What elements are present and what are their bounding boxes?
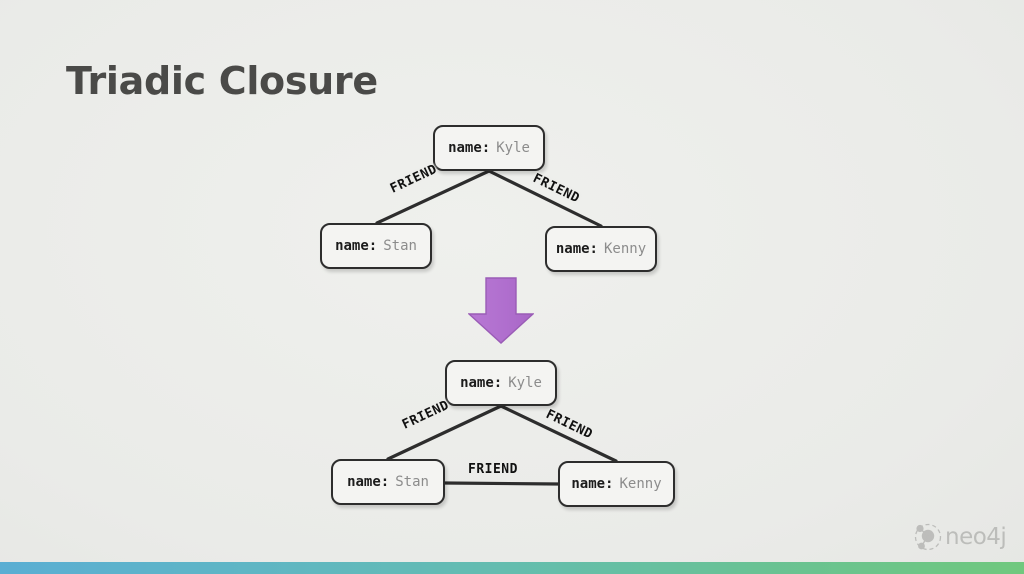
node-stan-bottom[interactable]: name: Stan xyxy=(331,459,445,505)
edge-stan-kenny-bottom xyxy=(445,483,558,484)
neo4j-graph-icon xyxy=(912,521,944,553)
node-key: name: xyxy=(448,140,490,156)
node-value: Kenny xyxy=(620,476,662,492)
edge-label-kyle-stan-top: FRIEND xyxy=(388,162,440,197)
edge-label-kyle-stan-bottom: FRIEND xyxy=(400,398,452,433)
downward-arrow-icon xyxy=(468,277,534,344)
edge-label-kyle-kenny-bottom: FRIEND xyxy=(543,407,594,442)
footer-gradient-bar xyxy=(0,562,1024,574)
edge-kyle-stan-top xyxy=(377,171,489,223)
node-value: Kenny xyxy=(604,241,646,257)
node-kenny-bottom[interactable]: name: Kenny xyxy=(558,461,675,507)
node-value: Kyle xyxy=(496,140,530,156)
slide-canvas: Triadic Closure name: Kyle name: Stan na… xyxy=(0,0,1024,574)
node-kenny-top[interactable]: name: Kenny xyxy=(545,226,657,272)
edge-label-kyle-kenny-top: FRIEND xyxy=(530,171,581,206)
logo-text: neo4j xyxy=(945,524,1006,550)
node-kyle-top[interactable]: name: Kyle xyxy=(433,125,545,171)
edge-label-stan-kenny-bottom: FRIEND xyxy=(468,462,518,477)
page-title: Triadic Closure xyxy=(66,59,378,103)
node-key: name: xyxy=(556,241,598,257)
node-key: name: xyxy=(347,474,389,490)
node-key: name: xyxy=(460,375,502,391)
node-value: Kyle xyxy=(508,375,542,391)
neo4j-logo: neo4j xyxy=(912,520,1012,554)
node-kyle-bottom[interactable]: name: Kyle xyxy=(445,360,557,406)
node-key: name: xyxy=(335,238,377,254)
node-value: Stan xyxy=(383,238,417,254)
node-key: name: xyxy=(571,476,613,492)
node-value: Stan xyxy=(395,474,429,490)
node-stan-top[interactable]: name: Stan xyxy=(320,223,432,269)
